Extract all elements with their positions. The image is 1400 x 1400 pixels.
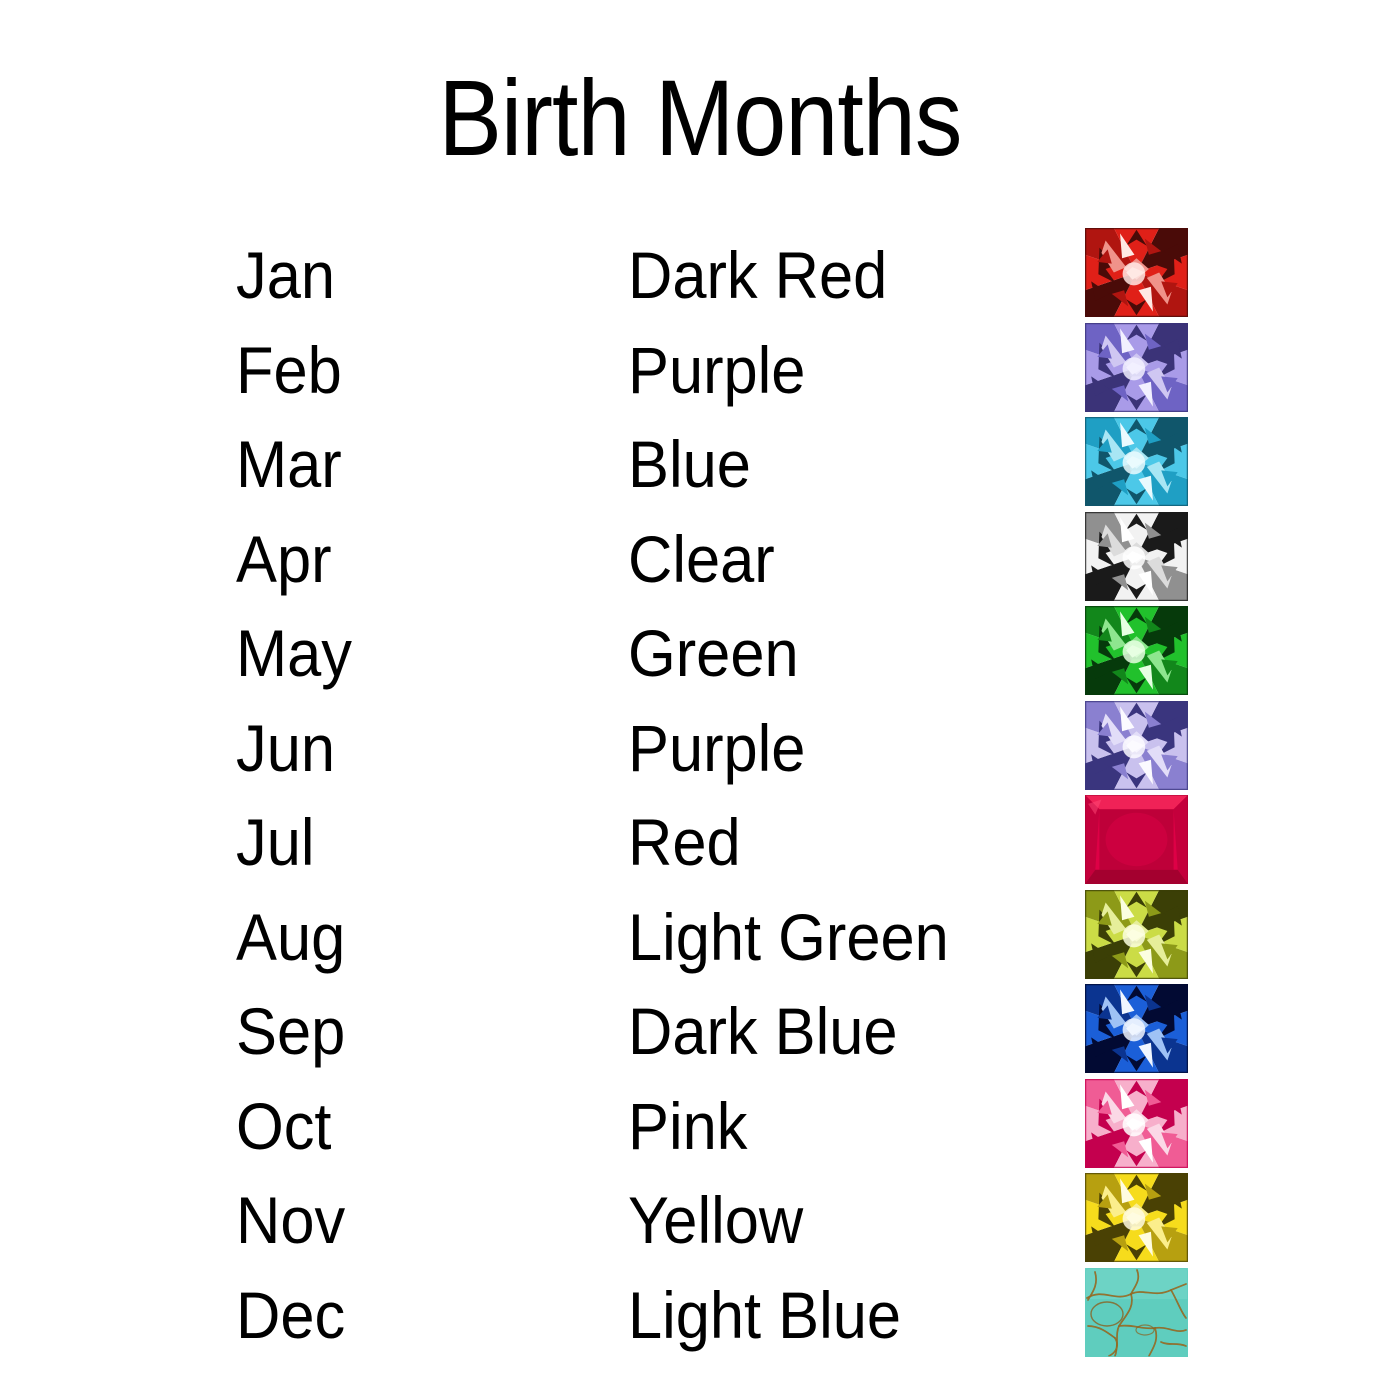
- color-name-label: Pink: [628, 1079, 747, 1174]
- month-label: Feb: [236, 323, 342, 418]
- month-label: Jan: [236, 228, 335, 323]
- month-label: Aug: [236, 890, 345, 985]
- color-name-label: Clear: [628, 512, 775, 607]
- month-label: Mar: [236, 417, 342, 512]
- birthstone-row: AprClear: [0, 512, 1400, 607]
- birthstone-row: JunPurple: [0, 701, 1400, 796]
- color-name-label: Blue: [628, 417, 751, 512]
- month-label: Apr: [236, 512, 332, 607]
- birthstone-chart-page: Birth Months JanDark RedFebPurpleMarBlue…: [0, 0, 1400, 1400]
- alexandrite-gem: [1085, 701, 1188, 790]
- birthstone-row: JulRed: [0, 795, 1400, 890]
- birthstone-row: SepDark Blue: [0, 984, 1400, 1079]
- aquamarine-gem: [1085, 417, 1188, 506]
- peridot-gem: [1085, 890, 1188, 979]
- birthstone-table: JanDark RedFebPurpleMarBlueAprClearMayGr…: [0, 228, 1400, 1362]
- month-label: Dec: [236, 1268, 345, 1363]
- month-label: Oct: [236, 1079, 331, 1174]
- birthstone-row: FebPurple: [0, 323, 1400, 418]
- garnet-gem: [1085, 228, 1188, 317]
- color-name-label: Green: [628, 606, 799, 701]
- birthstone-row: NovYellow: [0, 1173, 1400, 1268]
- color-name-label: Yellow: [628, 1173, 803, 1268]
- citrine-gem: [1085, 1173, 1188, 1262]
- month-label: Jul: [236, 795, 314, 890]
- birthstone-row: JanDark Red: [0, 228, 1400, 323]
- month-label: Nov: [236, 1173, 345, 1268]
- color-name-label: Dark Blue: [628, 984, 897, 1079]
- birthstone-row: DecLight Blue: [0, 1268, 1400, 1363]
- turquoise-gem: [1085, 1268, 1188, 1357]
- amethyst-gem: [1085, 323, 1188, 412]
- month-label: Jun: [236, 701, 335, 796]
- ruby-gem: [1085, 795, 1188, 884]
- tourmaline-gem: [1085, 1079, 1188, 1168]
- color-name-label: Light Green: [628, 890, 949, 985]
- birthstone-row: MayGreen: [0, 606, 1400, 701]
- sapphire-gem: [1085, 984, 1188, 1073]
- birthstone-row: AugLight Green: [0, 890, 1400, 985]
- diamond-gem: [1085, 512, 1188, 601]
- birthstone-row: MarBlue: [0, 417, 1400, 512]
- month-label: Sep: [236, 984, 345, 1079]
- month-label: May: [236, 606, 352, 701]
- emerald-gem: [1085, 606, 1188, 695]
- color-name-label: Purple: [628, 323, 805, 418]
- color-name-label: Light Blue: [628, 1268, 901, 1363]
- page-title: Birth Months: [84, 58, 1316, 178]
- birthstone-row: OctPink: [0, 1079, 1400, 1174]
- color-name-label: Purple: [628, 701, 805, 796]
- color-name-label: Red: [628, 795, 741, 890]
- color-name-label: Dark Red: [628, 228, 887, 323]
